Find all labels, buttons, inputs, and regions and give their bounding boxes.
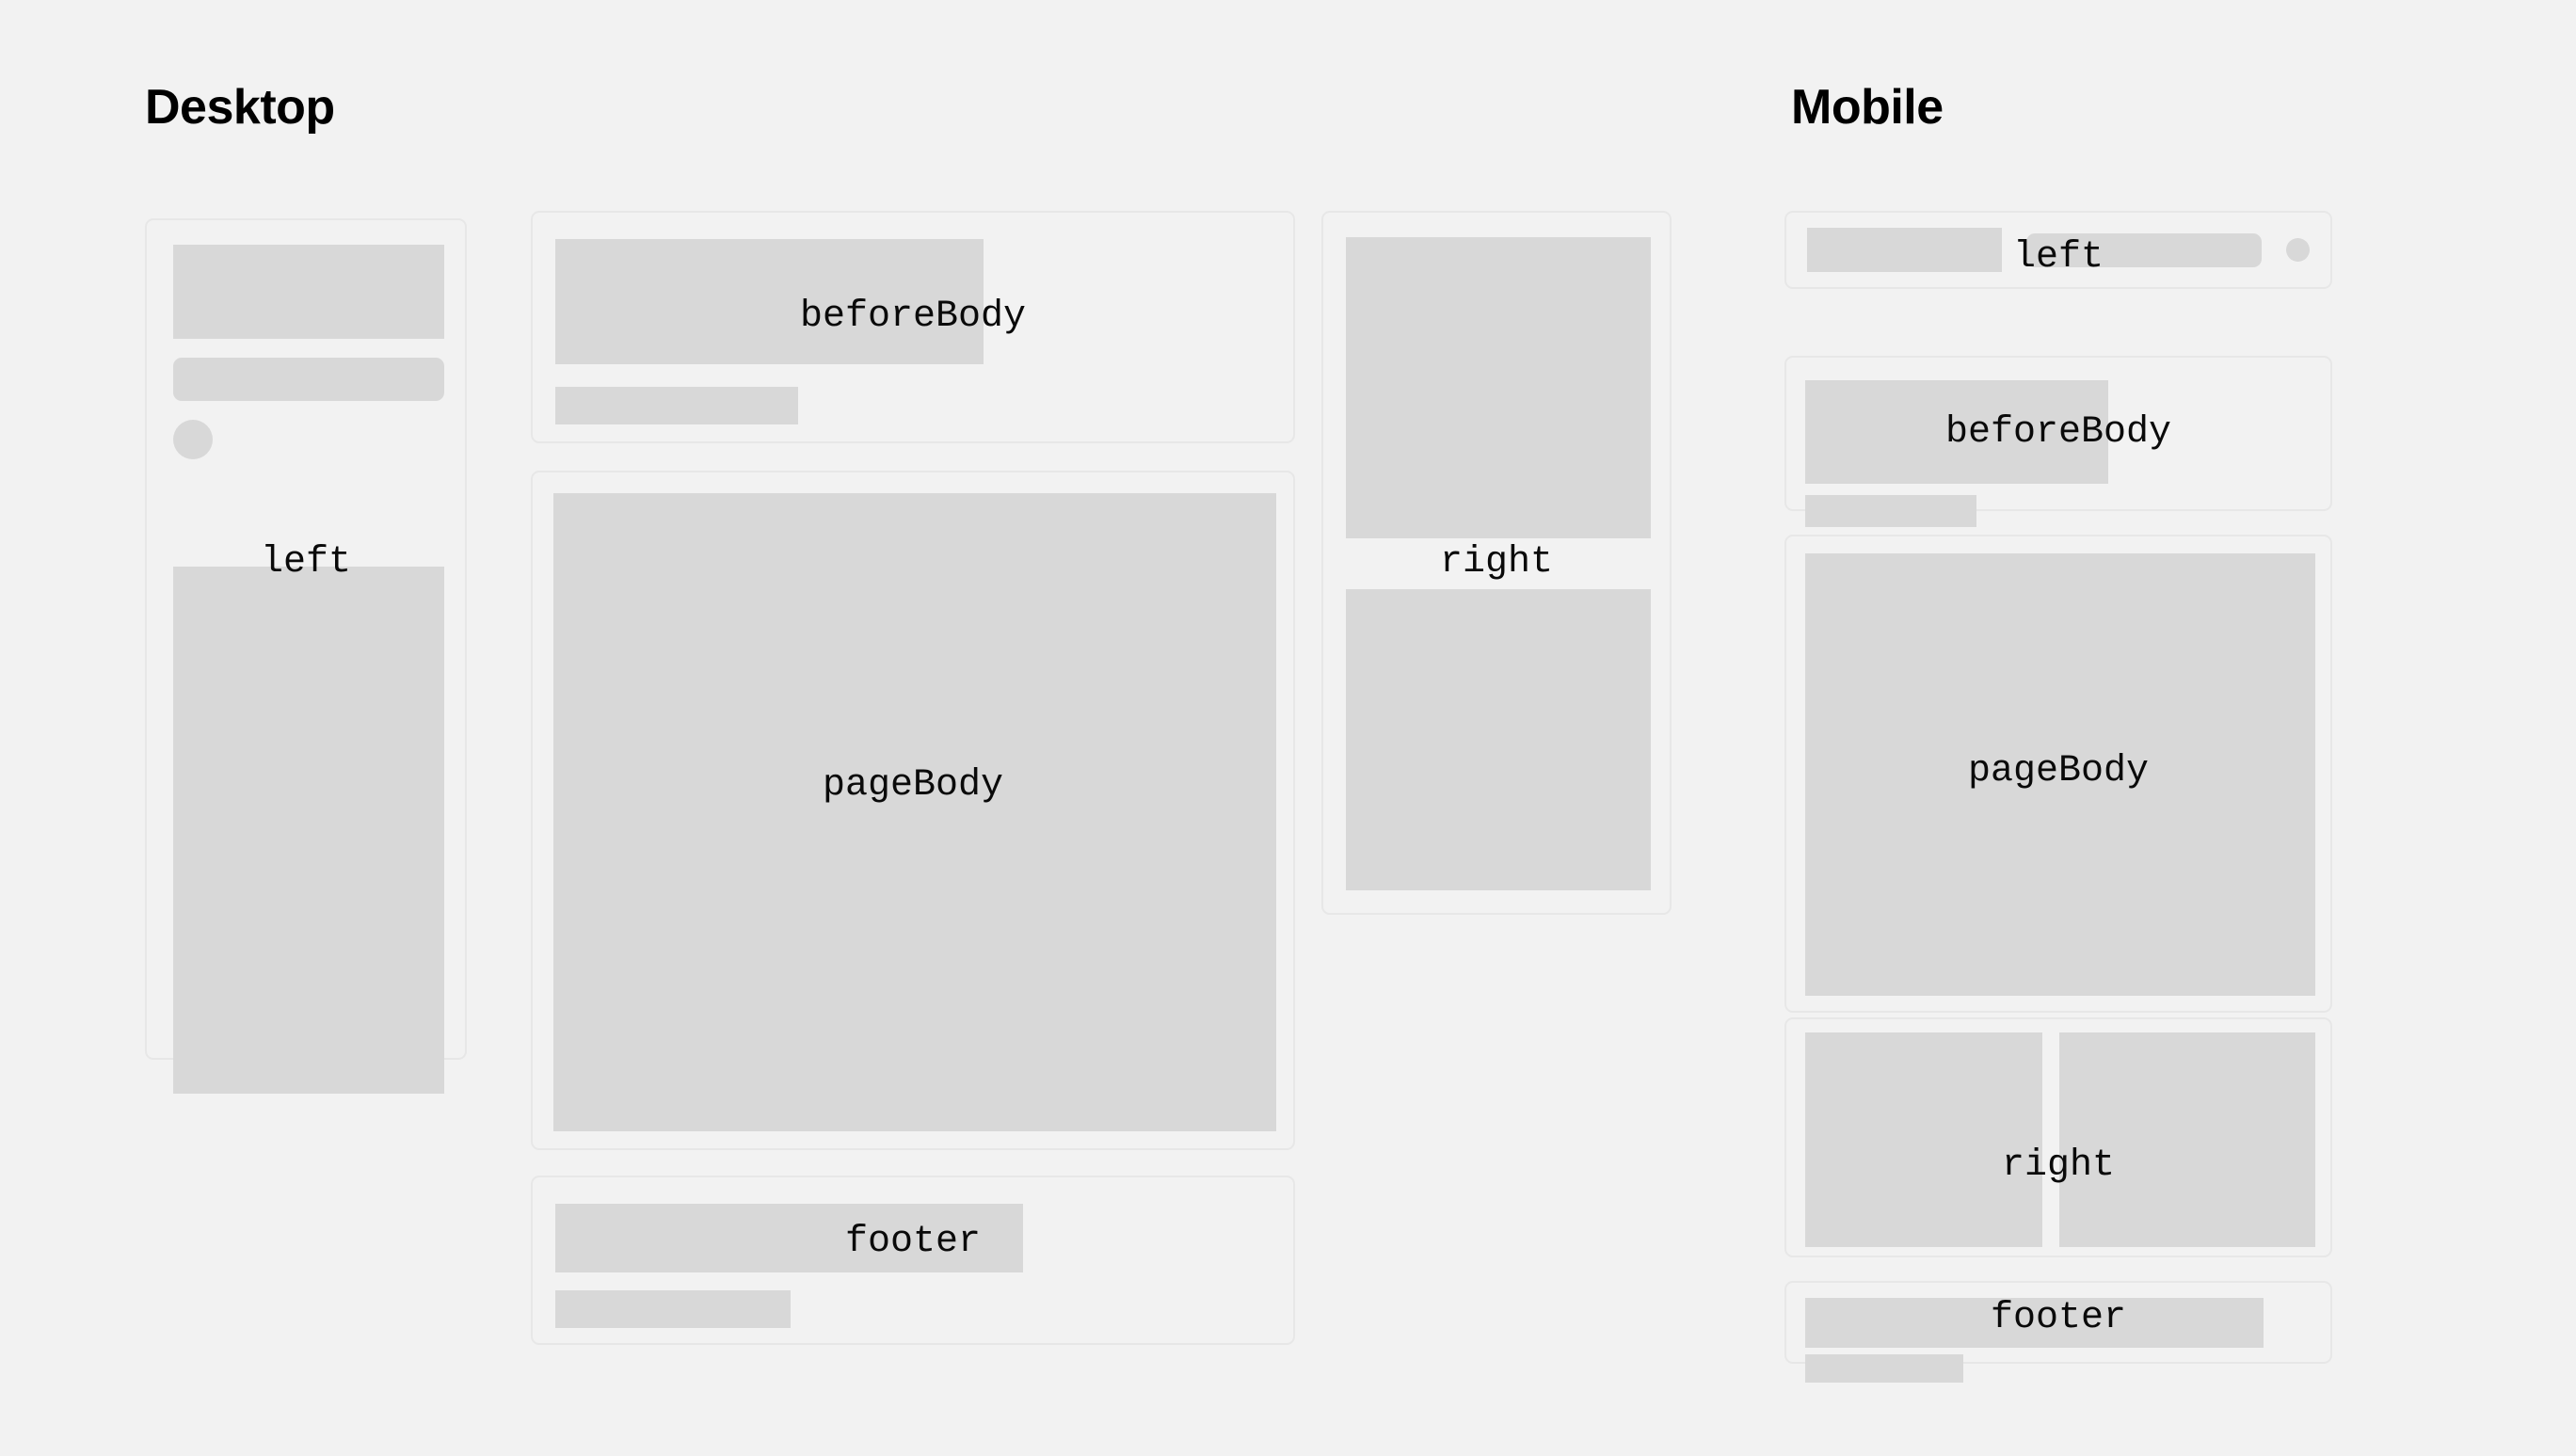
placeholder-block [2059, 1032, 2315, 1247]
desktop-slot-beforebody[interactable] [531, 211, 1295, 443]
desktop-slot-left[interactable] [145, 218, 467, 1060]
placeholder-block [1805, 1032, 2042, 1247]
placeholder-block [555, 387, 798, 424]
placeholder-block [1346, 237, 1651, 538]
placeholder-block [553, 493, 1276, 1131]
placeholder-block [1346, 589, 1651, 890]
placeholder-block [1807, 228, 2002, 272]
mobile-slot-pagebody[interactable] [1784, 535, 2332, 1013]
desktop-slot-right[interactable] [1321, 211, 1672, 915]
placeholder-block [1805, 1298, 2264, 1348]
mobile-slot-footer[interactable] [1784, 1281, 2332, 1364]
mobile-left-row [1807, 230, 2310, 270]
mobile-slot-beforebody[interactable] [1784, 356, 2332, 511]
placeholder-block [1805, 553, 2315, 996]
placeholder-dot [173, 420, 213, 459]
mobile-slot-left[interactable] [1784, 211, 2332, 289]
placeholder-dot [2286, 238, 2310, 262]
placeholder-block [1805, 380, 2108, 484]
placeholder-block [555, 1290, 791, 1328]
placeholder-pill [2026, 233, 2262, 267]
placeholder-block [1805, 1354, 1963, 1383]
placeholder-block [173, 358, 444, 401]
desktop-slot-footer[interactable] [531, 1176, 1295, 1345]
placeholder-block [555, 1204, 1023, 1272]
placeholder-block [173, 567, 444, 1094]
placeholder-block [555, 239, 984, 364]
mobile-section-title: Mobile [1791, 83, 1944, 132]
placeholder-block [173, 245, 444, 339]
wireframe-stage: Desktop left beforeBody pageBody footer … [0, 0, 2576, 1456]
mobile-slot-right[interactable] [1784, 1017, 2332, 1257]
desktop-section-title: Desktop [145, 83, 335, 132]
desktop-slot-pagebody[interactable] [531, 471, 1295, 1150]
placeholder-block [1805, 495, 1976, 527]
